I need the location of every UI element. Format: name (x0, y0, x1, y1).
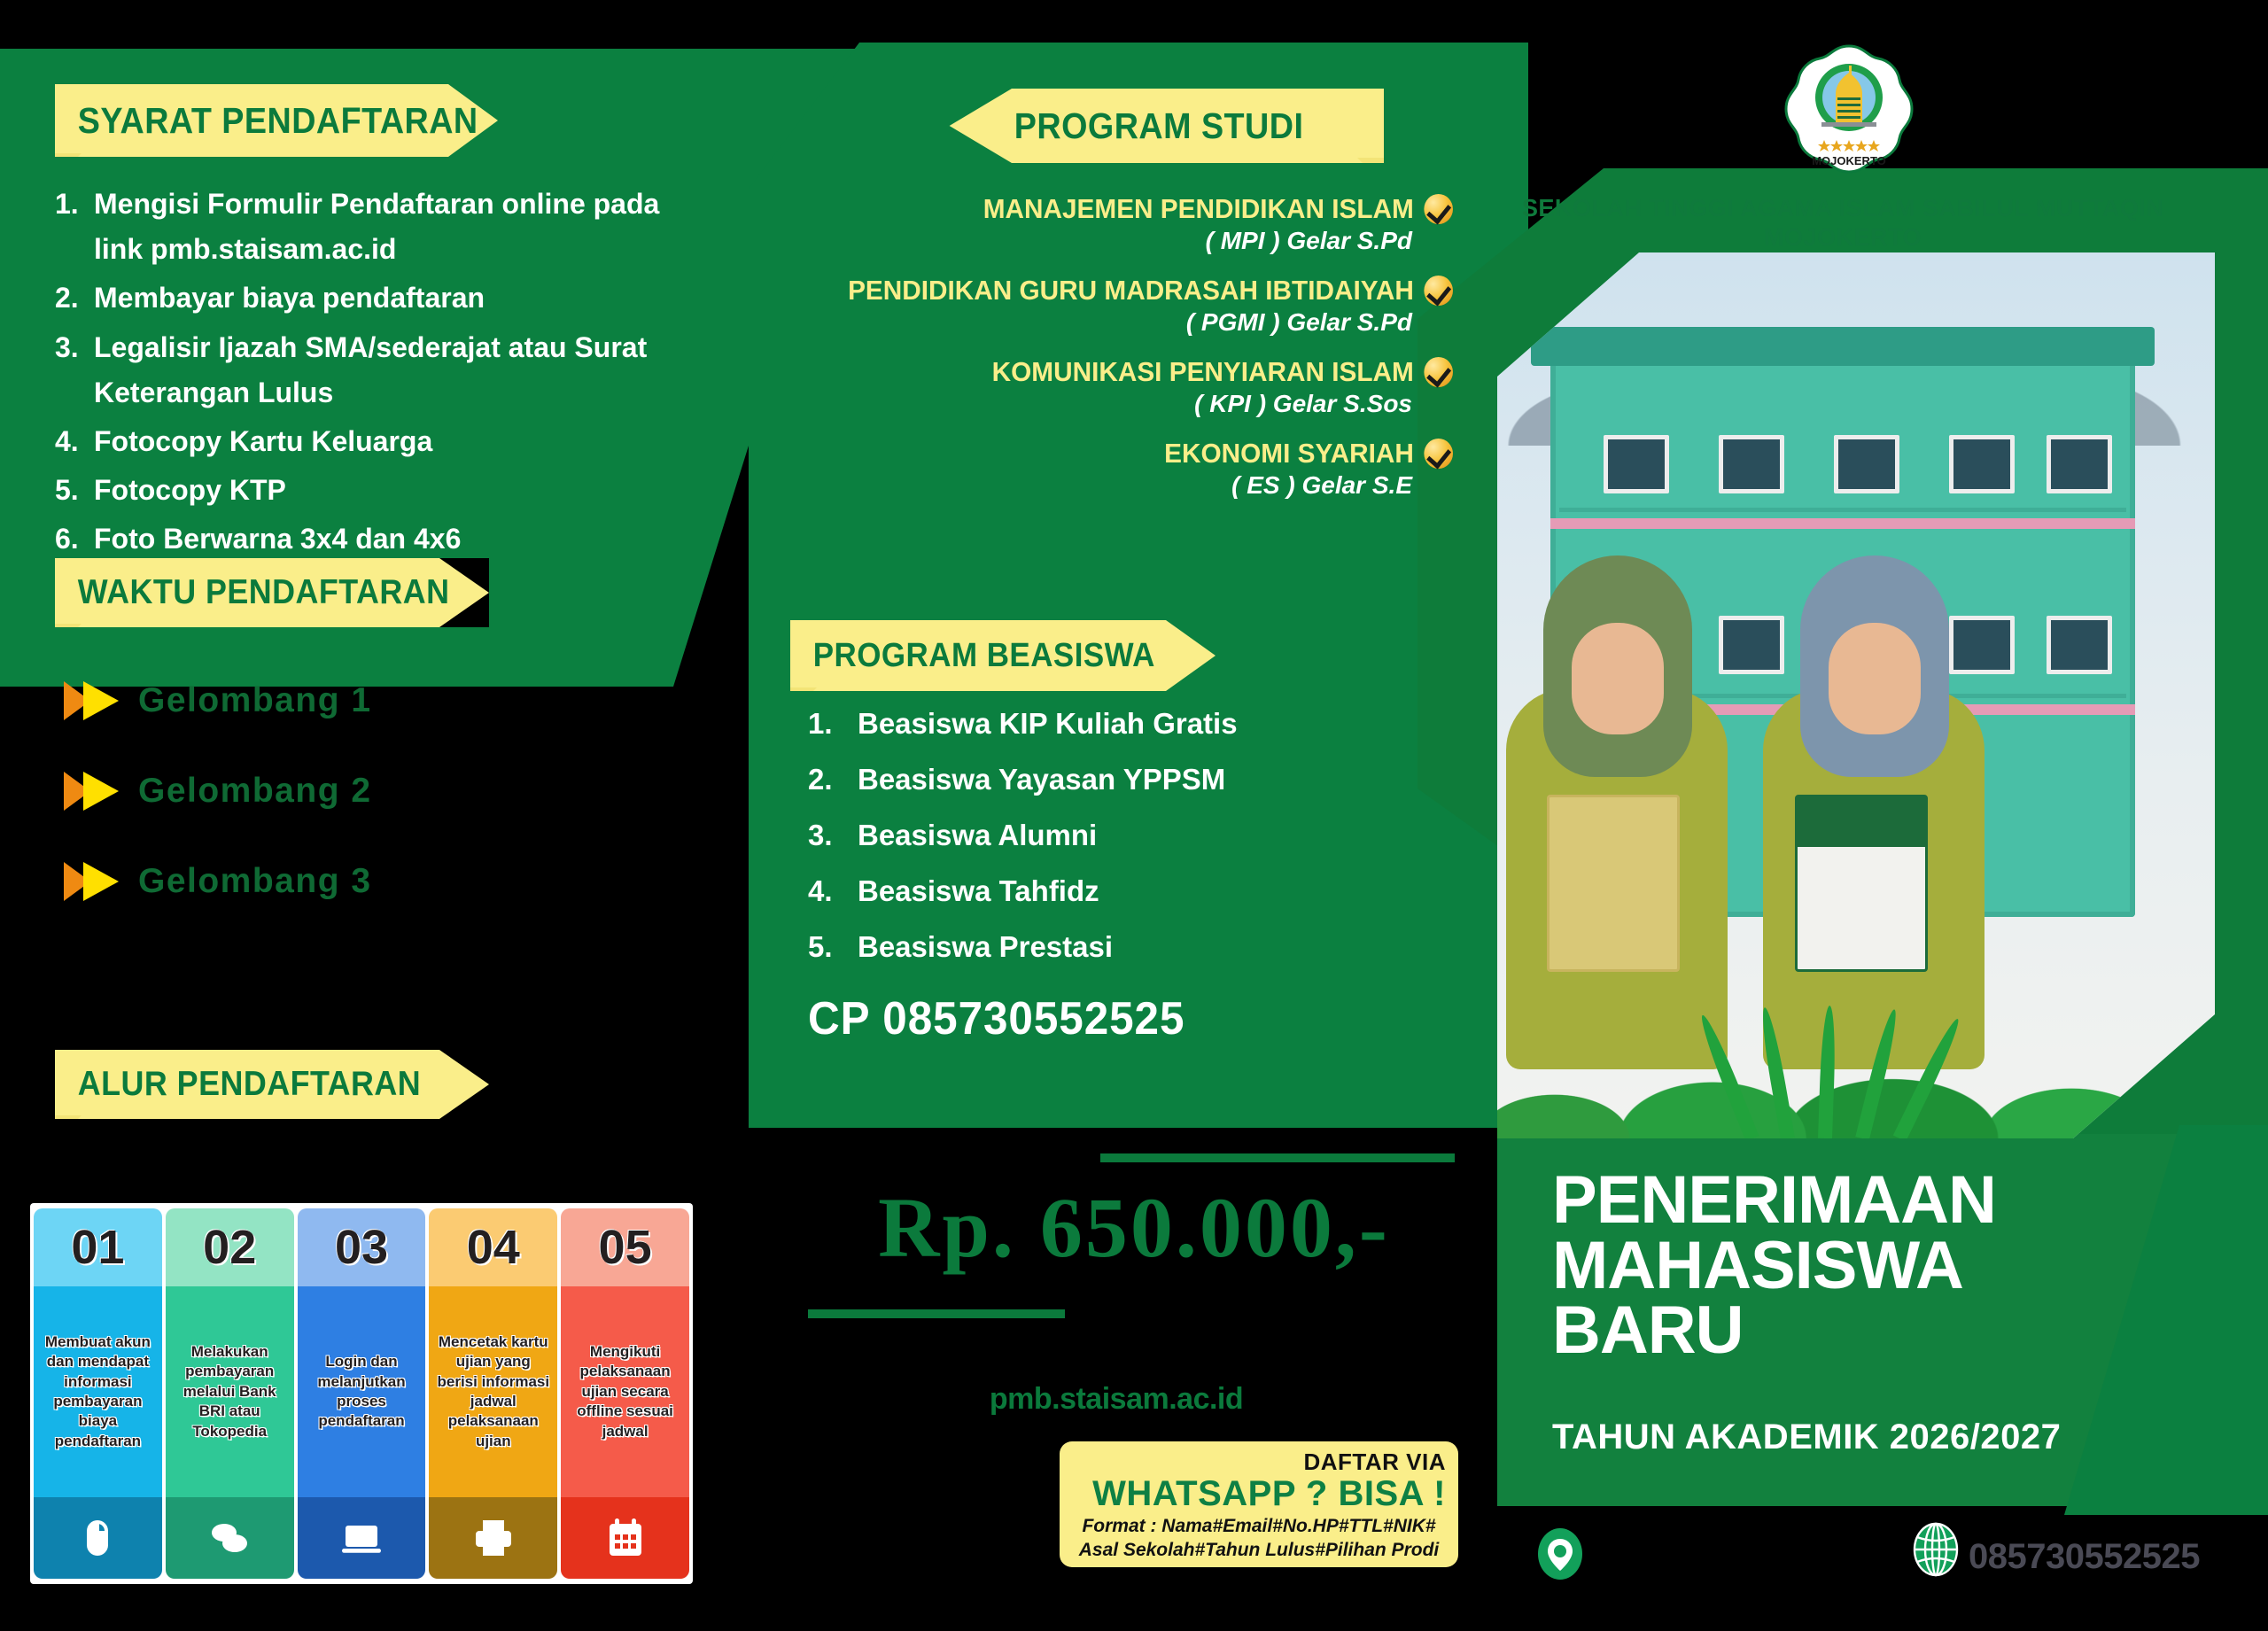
scholarship-text: Beasiswa KIP Kuliah Gratis (858, 709, 1238, 738)
location-pin-icon (1533, 1526, 1588, 1581)
building-window (2047, 435, 2112, 493)
study-program-name: MANAJEMEN PENDIDIKAN ISLAM (806, 193, 1453, 225)
scholarship-item: 2.Beasiswa Yayasan YPPSM (808, 765, 1375, 794)
study-programs-list: MANAJEMEN PENDIDIKAN ISLAM( MPI ) Gelar … (780, 193, 1453, 519)
whatsapp-daftar-label: DAFTAR VIA (1303, 1448, 1446, 1476)
requirement-text: Fotocopy KTP (94, 468, 675, 513)
banner-tail (55, 1115, 82, 1142)
study-program-item: EKONOMI SYARIAH( ES ) Gelar S.E (780, 438, 1453, 500)
requirement-text: Legalisir Ijazah SMA/sederajat atau Sura… (94, 325, 675, 416)
requirements-heading-label: SYARAT PENDAFTARAN (55, 100, 478, 142)
page-title: PENERIMAAN MAHASISWA BARU (1552, 1168, 2190, 1363)
scholarship-text: Beasiswa Prestasi (858, 932, 1113, 961)
price-amount: Rp. 650.000,- (797, 1178, 1471, 1277)
requirement-number: 3. (55, 325, 94, 416)
building-window (1949, 435, 2015, 493)
student-face (1572, 623, 1664, 734)
printer-icon (429, 1497, 557, 1579)
schedule-heading-label: WAKTU PENDAFTARAN (55, 573, 450, 612)
study-program-degree: ( PGMI ) Gelar S.Pd (780, 308, 1453, 337)
programs-heading-label: PROGRAM STUDI (941, 105, 1303, 147)
registration-url-link[interactable]: pmb.staisam.ac.id (797, 1382, 1435, 1417)
whatsapp-format-line-1: Format : Nama#Email#No.HP#TTL#NIK# (1072, 1515, 1446, 1538)
requirements-list: 1.Mengisi Formulir Pendaftaran online pa… (55, 182, 675, 566)
registration-wave-label: Gelombang 1 (138, 681, 372, 720)
registration-wave-label: Gelombang 2 (138, 772, 372, 811)
calendar-icon (561, 1497, 689, 1579)
flow-step-number: 05 (561, 1208, 689, 1286)
price-rule-top (1100, 1153, 1455, 1162)
banner-notch (1153, 620, 1216, 691)
check-circle-icon (1424, 357, 1453, 387)
building-window (2047, 616, 2112, 674)
scholarship-number: 2. (808, 765, 858, 794)
scholarship-item: 1.Beasiswa KIP Kuliah Gratis (808, 709, 1375, 738)
flow-step-number: 03 (298, 1208, 426, 1286)
institution-logo: MOJOKERTO (1783, 43, 1915, 175)
double-chevron-icon (64, 772, 119, 811)
scholarship-item: 4.Beasiswa Tahfidz (808, 876, 1375, 905)
building-window (1834, 435, 1899, 493)
registration-flow-diagram: 01Membuat akun dan mendapat informasi pe… (30, 1203, 693, 1584)
flow-heading-label: ALUR PENDAFTARAN (55, 1065, 421, 1104)
headline-line-2: MAHASISWA (1552, 1233, 2190, 1299)
requirement-item: 6.Foto Berwarna 3x4 dan 4x6 (55, 516, 675, 562)
flow-step-card: 03Login dan melanjutkan proses pendaftar… (298, 1208, 426, 1579)
study-program-degree: ( KPI ) Gelar S.Sos (780, 390, 1453, 418)
flow-step-number: 01 (34, 1208, 162, 1286)
double-chevron-icon (64, 862, 119, 901)
study-program-item: PENDIDIKAN GURU MADRASAH IBTIDAIYAH( PGM… (780, 275, 1453, 337)
student-envelope (1547, 795, 1680, 972)
globe-icon (1908, 1522, 1963, 1577)
flow-step-card: 04Mencetak kartu ujian yang berisi infor… (429, 1208, 557, 1579)
requirement-number: 6. (55, 516, 94, 562)
price-rule-bottom (808, 1309, 1065, 1318)
scholarship-number: 4. (808, 876, 858, 905)
double-chevron-icon (64, 681, 119, 720)
check-circle-icon (1424, 439, 1453, 469)
requirement-text: Membayar biaya pendaftaran (94, 276, 675, 321)
requirement-number: 5. (55, 468, 94, 513)
study-program-name: EKONOMI SYARIAH (806, 438, 1453, 470)
requirement-number: 4. (55, 419, 94, 464)
laptop-icon (298, 1497, 426, 1579)
campus-students-photo (1497, 252, 2215, 1138)
registration-wave-item[interactable]: Gelombang 3 (64, 836, 613, 927)
registration-waves-list: Gelombang 1Gelombang 2Gelombang 3 (64, 656, 613, 927)
study-program-item: KOMUNIKASI PENYIARAN ISLAM( KPI ) Gelar … (780, 356, 1453, 418)
check-circle-icon (1424, 276, 1453, 306)
institution-name-line-2: MOJOKERTO (1482, 222, 2204, 252)
requirements-heading-banner: SYARAT PENDAFTARAN (55, 84, 498, 157)
headline-line-3: BARU (1552, 1298, 2190, 1363)
study-program-name-text: EKONOMI SYARIAH (1164, 438, 1414, 470)
requirement-text: Foto Berwarna 3x4 dan 4x6 (94, 516, 675, 562)
academic-year-label: TAHUN AKADEMIK 2026/2027 (1552, 1417, 2190, 1457)
flow-step-number: 02 (166, 1208, 294, 1286)
scholarship-heading-label: PROGRAM BEASISWA (790, 637, 1155, 675)
student-report-document (1795, 795, 1928, 972)
requirement-item: 4.Fotocopy Kartu Keluarga (55, 419, 675, 464)
student-face (1829, 623, 1921, 734)
study-program-name-text: MANAJEMEN PENDIDIKAN ISLAM (983, 193, 1414, 225)
registration-wave-item[interactable]: Gelombang 1 (64, 656, 613, 746)
study-program-name-text: KOMUNIKASI PENYIARAN ISLAM (992, 356, 1414, 388)
building-roof (1531, 327, 2155, 366)
whatsapp-title-label: WHATSAPP ? BISA ! (1092, 1474, 1446, 1514)
study-program-name: PENDIDIKAN GURU MADRASAH IBTIDAIYAH (806, 275, 1453, 307)
building-window (1719, 435, 1784, 493)
whatsapp-format-line-2: Asal Sekolah#Tahun Lulus#Pilihan Prodi (1072, 1539, 1446, 1562)
programs-heading-banner: PROGRAM STUDI (941, 89, 1384, 163)
requirement-item: 3.Legalisir Ijazah SMA/sederajat atau Su… (55, 325, 675, 416)
study-program-name: KOMUNIKASI PENYIARAN ISLAM (806, 356, 1453, 388)
flow-step-description: Mengikuti pelaksanaan ujian secara offli… (561, 1286, 689, 1497)
flow-step-description: Membuat akun dan mendapat informasi pemb… (34, 1286, 162, 1497)
flow-step-card: 01Membuat akun dan mendapat informasi pe… (34, 1208, 162, 1579)
schedule-heading-banner: WAKTU PENDAFTARAN (55, 558, 489, 627)
requirement-text: Mengisi Formulir Pendaftaran online pada… (94, 182, 675, 272)
requirement-item: 2.Membayar biaya pendaftaran (55, 276, 675, 321)
requirement-text: Fotocopy Kartu Keluarga (94, 419, 675, 464)
logo-caption-text: MOJOKERTO (1812, 154, 1886, 167)
requirement-number: 2. (55, 276, 94, 321)
institution-name: SEKOLAH TINGGI AGAMA ISLAM SABILUL MUTTA… (1482, 193, 2204, 252)
scholarship-item: 5.Beasiswa Prestasi (808, 932, 1375, 961)
building-window (1604, 435, 1669, 493)
scholarship-number: 1. (808, 709, 858, 738)
headline-line-1: PENERIMAAN (1552, 1168, 2190, 1233)
institution-name-line-1: SEKOLAH TINGGI AGAMA ISLAM SABILUL MUTTA… (1482, 193, 2204, 222)
flow-step-description: Melakukan pembayaran melalui Bank BRI at… (166, 1286, 294, 1497)
flow-step-card: 02Melakukan pembayaran melalui Bank BRI … (166, 1208, 294, 1579)
study-program-degree: ( MPI ) Gelar S.Pd (780, 227, 1453, 255)
flow-step-description: Mencetak kartu ujian yang berisi informa… (429, 1286, 557, 1497)
requirement-item: 1.Mengisi Formulir Pendaftaran online pa… (55, 182, 675, 272)
contact-person-text: CP 085730552525 (808, 992, 1184, 1045)
banner-notch (427, 1050, 489, 1119)
registration-wave-item[interactable]: Gelombang 2 (64, 746, 613, 836)
study-program-degree: ( ES ) Gelar S.E (780, 471, 1453, 500)
study-program-item: MANAJEMEN PENDIDIKAN ISLAM( MPI ) Gelar … (780, 193, 1453, 255)
flow-step-card: 05Mengikuti pelaksanaan ujian secara off… (561, 1208, 689, 1579)
scholarship-item: 3.Beasiswa Alumni (808, 820, 1375, 850)
scholarship-text: Beasiswa Tahfidz (858, 876, 1099, 905)
scholarship-number: 5. (808, 932, 858, 961)
requirement-item: 5.Fotocopy KTP (55, 468, 675, 513)
money-icon (166, 1497, 294, 1579)
footer-phone-number: 085730552525 (1969, 1537, 2200, 1577)
scholarship-heading-banner: PROGRAM BEASISWA (790, 620, 1216, 691)
flow-heading-banner: ALUR PENDAFTARAN (55, 1050, 489, 1119)
flow-step-number: 04 (429, 1208, 557, 1286)
flow-step-description: Login dan melanjutkan proses pendaftaran (298, 1286, 426, 1497)
check-circle-icon (1424, 194, 1453, 224)
study-program-name-text: PENDIDIKAN GURU MADRASAH IBTIDAIYAH (848, 275, 1414, 307)
requirement-number: 1. (55, 182, 94, 272)
scholarship-number: 3. (808, 820, 858, 850)
scholarship-programs-list: 1.Beasiswa KIP Kuliah Gratis2.Beasiswa Y… (808, 709, 1375, 988)
whatsapp-registration-box[interactable]: DAFTAR VIA WHATSAPP ? BISA ! Format : Na… (1060, 1441, 1458, 1567)
scholarship-text: Beasiswa Alumni (858, 820, 1097, 850)
scholarship-text: Beasiswa Yayasan YPPSM (858, 765, 1225, 794)
registration-wave-label: Gelombang 3 (138, 862, 372, 901)
mouse-icon (34, 1497, 162, 1579)
